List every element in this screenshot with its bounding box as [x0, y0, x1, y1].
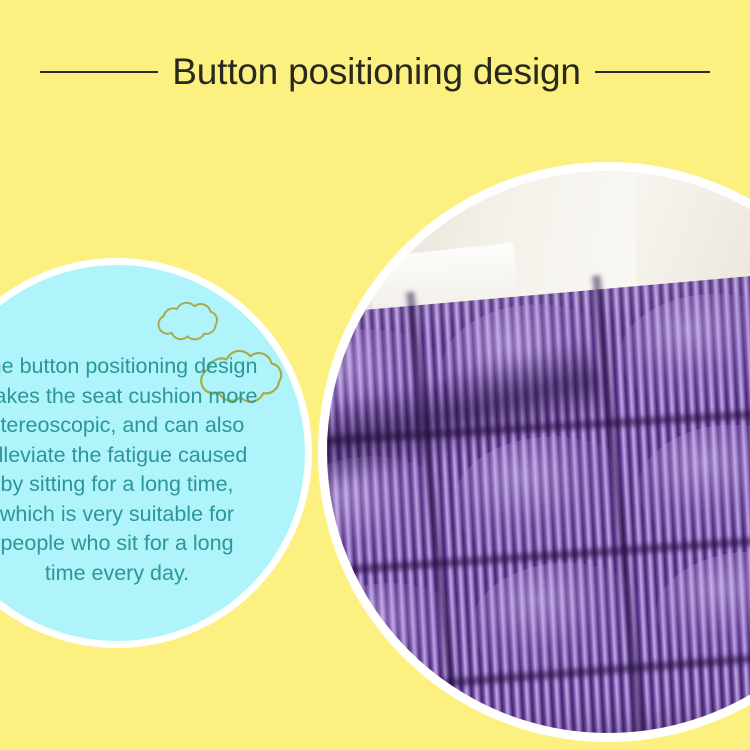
- info-body-line: which is very suitable for: [0, 500, 308, 530]
- info-body-line: people who sit for a long: [0, 529, 308, 559]
- cushion-tuft: [633, 418, 750, 551]
- info-body-line: time every day.: [0, 559, 308, 589]
- info-body-line: alleviate the fatigue caused: [0, 441, 308, 471]
- product-photo-circle: [318, 162, 750, 742]
- cushion-seam-vertical: [403, 291, 468, 733]
- cushion-pompom-trim: [327, 719, 750, 733]
- title-rule-right: [595, 71, 710, 73]
- page-header: Button positioning design: [0, 46, 750, 98]
- info-body-line: stereoscopic, and can also: [0, 411, 308, 441]
- cushion-seam-horizontal: [327, 518, 750, 584]
- cushion-seam-horizontal: [327, 632, 750, 704]
- info-body-line: The button positioning design: [0, 352, 308, 382]
- info-body-line: makes the seat cushion more: [0, 382, 308, 412]
- seat-cushion: [327, 260, 750, 733]
- cushion-tuft: [615, 287, 750, 415]
- info-body-line: by sitting for a long time,: [0, 470, 308, 500]
- product-photo-image: [327, 171, 750, 733]
- title-rule-left: [40, 71, 158, 73]
- page-title: Button positioning design: [172, 50, 580, 94]
- promo-banner: Button positioning design: [0, 0, 750, 750]
- cushion-fold-shadow: [327, 337, 609, 512]
- info-body-text: The button positioning design makes the …: [0, 352, 312, 588]
